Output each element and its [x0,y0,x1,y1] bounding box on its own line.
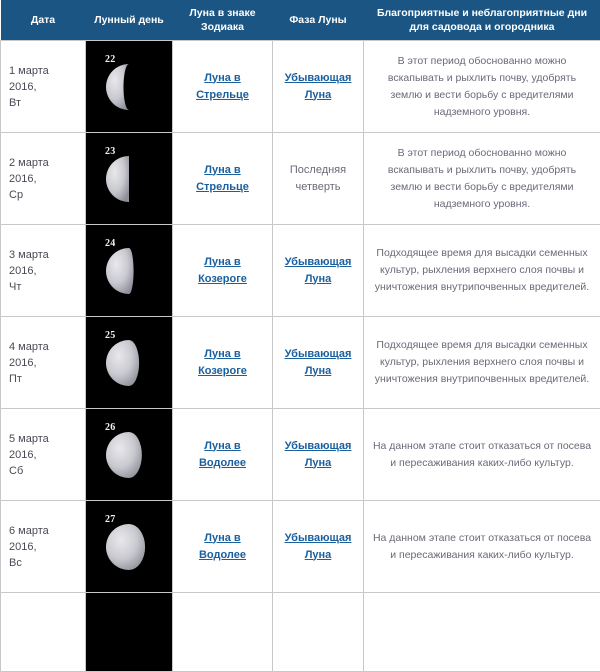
date-cell: 6 марта 2016, Вс [1,501,86,593]
date-weekday: Пт [9,373,22,385]
header-row: Дата Лунный день Луна в знаке Зодиака Фа… [1,0,600,41]
date-weekday: Сб [9,465,23,477]
lunar-day-cell: 23 [86,133,173,225]
moon-phase-graphic [106,432,152,478]
zodiac-link[interactable]: Луна в Стрельце [196,164,249,193]
date-cell [1,593,86,672]
moon-phase-cell: Последняя четверть [273,133,364,225]
moon-phase-graphic [106,340,152,386]
table-row: 4 марта 2016, Пт 25 Луна в Козероге Убыв… [1,317,600,409]
date-cell: 2 марта 2016, Ср [1,133,86,225]
lunar-day-cell: 27 [86,501,173,593]
garden-advice-cell: На данном этапе стоит отказаться от посе… [364,501,600,593]
zodiac-cell: Луна в Водолее [173,409,273,501]
zodiac-link[interactable]: Луна в Стрельце [196,72,249,101]
date-day: 6 марта 2016, [9,525,49,553]
date-day: 4 марта 2016, [9,341,49,369]
lunar-day-number: 22 [105,54,116,65]
moon-phase-cell: Убывающая Луна [273,41,364,133]
garden-advice-cell: В этот период обоснованно можно вскапыва… [364,133,600,225]
moon-phase-graphic [106,248,152,294]
moon-image: 24 [94,231,164,310]
moon-phase-graphic [106,156,152,202]
zodiac-cell: Луна в Козероге [173,317,273,409]
lunar-day-number: 24 [105,238,116,249]
table-row: 6 марта 2016, Вс 27 Луна в Водолее Убыва… [1,501,600,593]
moon-phase-link[interactable]: Убывающая Луна [285,348,352,377]
date-cell: 4 марта 2016, Пт [1,317,86,409]
lunar-day-number: 26 [105,422,116,433]
moon-image: 22 [94,47,164,126]
table-row: 5 марта 2016, Сб 26 Луна в Водолее Убыва… [1,409,600,501]
date-weekday: Вт [9,97,21,109]
column-header-zodiac: Луна в знаке Зодиака [173,0,273,41]
moon-phase-graphic [106,64,152,110]
zodiac-link[interactable]: Луна в Козероге [198,256,247,285]
date-cell: 3 марта 2016, Чт [1,225,86,317]
moon-image: 23 [94,139,164,218]
table-body: 1 марта 2016, Вт 22 Луна в Стрельце Убыв… [1,41,600,672]
lunar-day-cell: 24 [86,225,173,317]
moon-phase-cell: Убывающая Луна [273,225,364,317]
zodiac-link[interactable]: Луна в Козероге [198,348,247,377]
moon-image [94,621,164,643]
moon-phase-cell [273,593,364,672]
moon-phase-cell: Убывающая Луна [273,409,364,501]
table-row: 3 марта 2016, Чт 24 Луна в Козероге Убыв… [1,225,600,317]
moon-image: 26 [94,415,164,494]
moon-phase-link[interactable]: Убывающая Луна [285,256,352,285]
zodiac-cell [173,593,273,672]
date-weekday: Вс [9,557,22,569]
moon-phase-graphic [106,524,152,570]
garden-advice-cell: В этот период обоснованно можно вскапыва… [364,41,600,133]
column-header-garden-advice: Благоприятные и неблагоприятные дни для … [364,0,600,41]
lunar-day-cell: 26 [86,409,173,501]
moon-phase-link[interactable]: Убывающая Луна [285,532,352,561]
column-header-date: Дата [1,0,86,41]
date-weekday: Чт [9,281,21,293]
garden-advice-cell: Подходящее время для высадки семенных ку… [364,225,600,317]
garden-advice-cell: На данном этапе стоит отказаться от посе… [364,409,600,501]
date-day: 2 марта 2016, [9,157,49,185]
moon-phase-text: Последняя четверть [290,164,346,193]
date-day: 5 марта 2016, [9,433,49,461]
zodiac-cell: Луна в Козероге [173,225,273,317]
lunar-day-cell: 22 [86,41,173,133]
date-day: 1 марта 2016, [9,65,49,93]
garden-advice-cell: Подходящее время для высадки семенных ку… [364,317,600,409]
moon-phase-link[interactable]: Убывающая Луна [285,72,352,101]
moon-phase-cell: Убывающая Луна [273,501,364,593]
lunar-day-cell: 25 [86,317,173,409]
zodiac-cell: Луна в Стрельце [173,41,273,133]
table-row: 2 марта 2016, Ср 23 Луна в Стрельце Посл… [1,133,600,225]
moon-phase-cell: Убывающая Луна [273,317,364,409]
lunar-day-cell [86,593,173,672]
date-cell: 5 марта 2016, Сб [1,409,86,501]
lunar-calendar-table: Дата Лунный день Луна в знаке Зодиака Фа… [0,0,600,672]
table-row-partial [1,593,600,672]
table-row: 1 марта 2016, Вт 22 Луна в Стрельце Убыв… [1,41,600,133]
date-day: 3 марта 2016, [9,249,49,277]
garden-advice-cell [364,593,600,672]
date-weekday: Ср [9,189,23,201]
zodiac-cell: Луна в Стрельце [173,133,273,225]
lunar-day-number: 27 [105,514,116,525]
column-header-lunar-day: Лунный день [86,0,173,41]
column-header-moon-phase: Фаза Луны [273,0,364,41]
moon-image: 25 [94,323,164,402]
zodiac-link[interactable]: Луна в Водолее [199,532,246,561]
date-cell: 1 марта 2016, Вт [1,41,86,133]
lunar-day-number: 25 [105,330,116,341]
zodiac-link[interactable]: Луна в Водолее [199,440,246,469]
zodiac-cell: Луна в Водолее [173,501,273,593]
table-header: Дата Лунный день Луна в знаке Зодиака Фа… [1,0,600,41]
moon-phase-link[interactable]: Убывающая Луна [285,440,352,469]
lunar-day-number: 23 [105,146,116,157]
moon-image: 27 [94,507,164,586]
